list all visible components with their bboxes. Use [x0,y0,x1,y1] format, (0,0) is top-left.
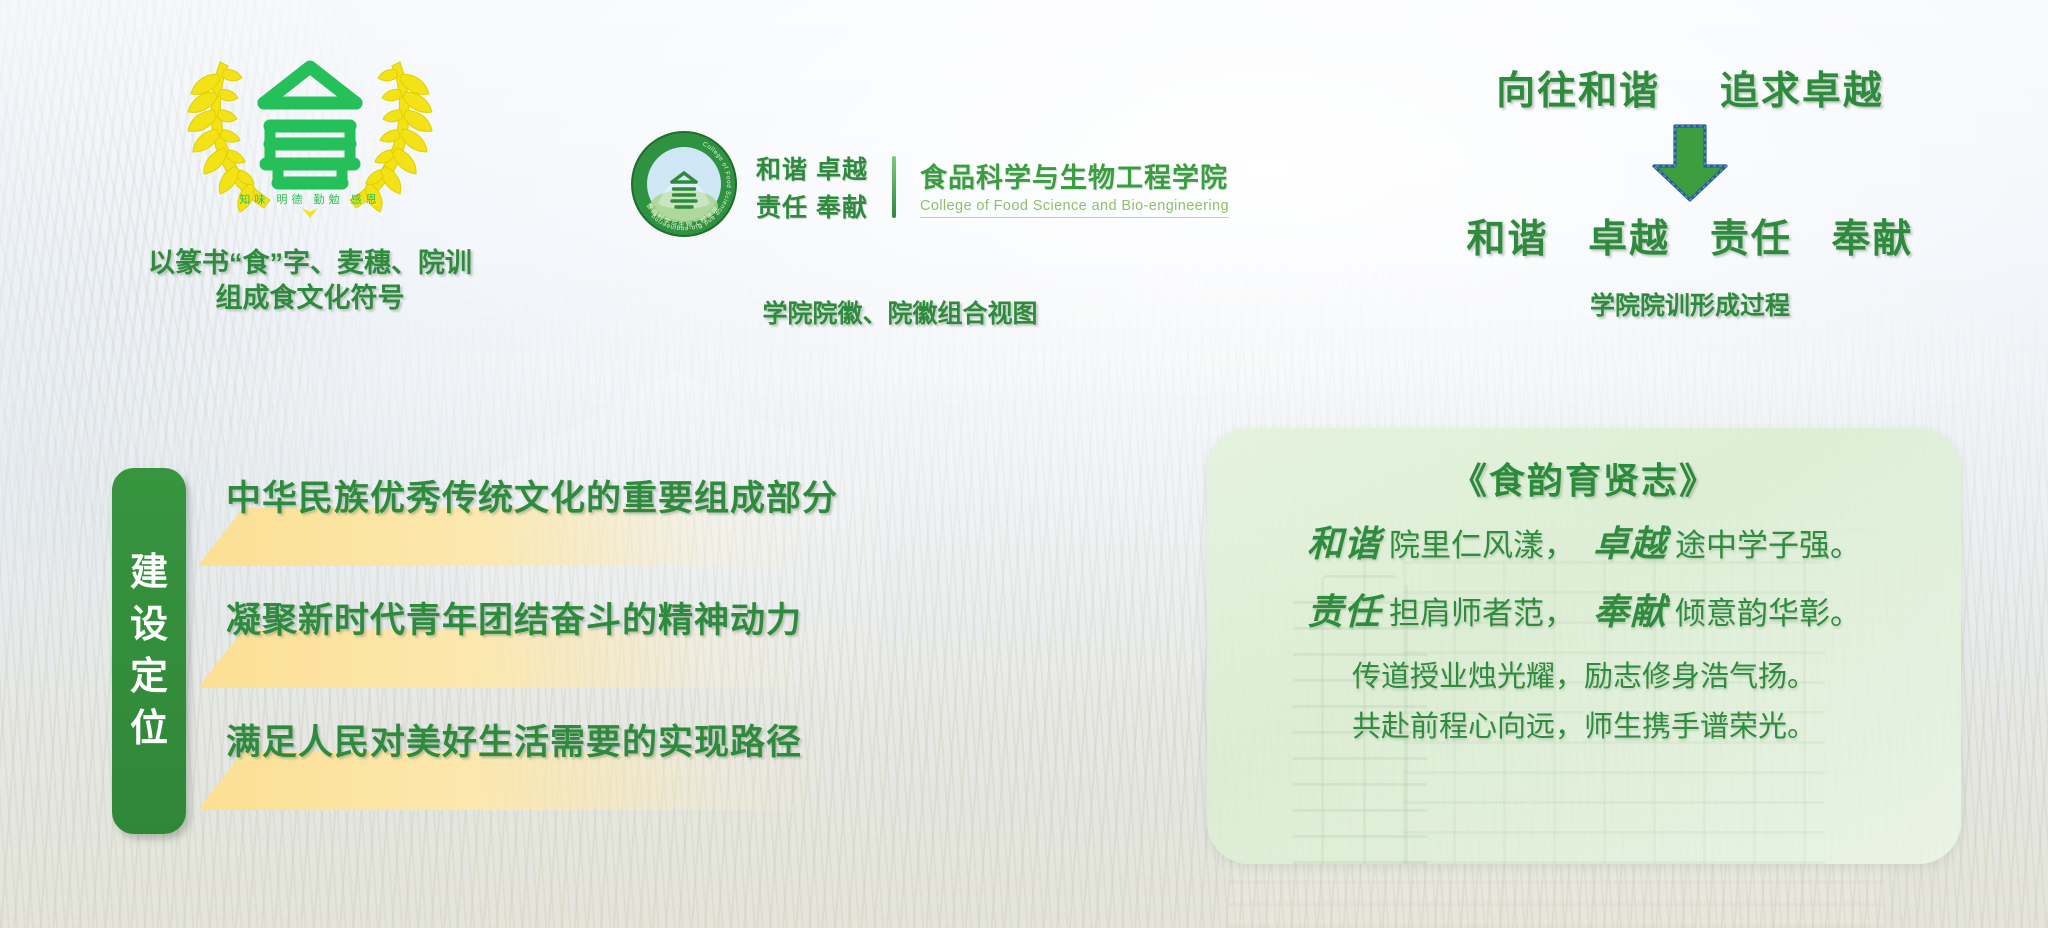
vertical-divider [892,156,896,218]
motto-source-line: 向往和谐 追求卓越 [1440,60,1940,116]
poem-line: 责任担肩师者范，奉献倾意韵华彰。 [1237,592,1931,632]
poem-keyword: 责任 [1307,592,1389,632]
positioning-label-char-3: 定 [130,658,168,696]
college-name-group: 食品科学与生物工程学院 College of Food Science and … [920,156,1229,218]
seal-script-food-character-icon: 知味 明德 勤勉 感恩 [160,40,460,230]
motto-formation-caption: 学院院训形成过程 [1440,290,1940,322]
poem-line: 共赴前程心向远，师生携手谱荣光。 [1237,711,1931,743]
emblem-motto-four-words: 和谐 卓越 责任 奉献 [756,150,868,224]
caption-line-1: 以篆书“食”字、麦穗、院训 [90,246,530,281]
motto-source-left: 向往和谐 [1496,70,1660,113]
wheat-ear-right-icon [350,62,432,212]
positioning-label-char-4: 位 [130,710,168,748]
poem-line-text: 担肩师者范， [1389,596,1575,631]
poem-content: 《食韵育贤志》 和谐院里仁风漾，卓越途中学子强。 责任担肩师者范，奉献倾意韵华彰… [1207,428,1961,744]
college-emblem-caption: 学院院徽、院徽组合视图 [630,298,1170,330]
poem-line: 传道授业烛光耀，励志修身浩气扬。 [1237,661,1931,693]
emblem-motto-line-2: 责任 奉献 [756,188,868,224]
positioning-item: 满足人民对美好生活需要的实现路径 [198,714,918,810]
poster-canvas: 知味 明德 勤勉 感恩 以篆书“食”字、麦穗、院训 组成食文化符号 [0,0,2048,928]
positioning-item-text: 满足人民对美好生活需要的实现路径 [226,714,802,765]
positioning-vertical-label: 建 设 定 位 [112,468,186,834]
college-name-english: College of Food Science and Bio-engineer… [920,198,1229,218]
caption-line-2: 组成食文化符号 [90,281,530,316]
college-name-chinese: 食品科学与生物工程学院 [920,156,1229,195]
food-culture-symbol-caption: 以篆书“食”字、麦穗、院训 组成食文化符号 [90,246,530,315]
top-row: 知味 明德 勤勉 感恩 以篆书“食”字、麦穗、院训 组成食文化符号 [0,0,2048,370]
positioning-item: 凝聚新时代青年团结奋斗的精神动力 [198,592,918,688]
poem-line-text: 倾意韵华彰。 [1675,596,1861,631]
emblem-lockup-row: College of Food Science and Bio-engineer… [630,130,1170,243]
poem-card: 《食韵育贤志》 和谐院里仁风漾，卓越途中学子强。 责任担肩师者范，奉献倾意韵华彰… [1207,428,1961,864]
poem-line-text: 途中学子强。 [1675,528,1861,563]
seal-symbol-graphic: 知味 明德 勤勉 感恩 [160,40,460,230]
motto-word-1: 和谐 [1466,218,1548,261]
motto-result-line: 和谐 卓越 责任 奉献 [1440,208,1940,264]
emblem-motto-line-1: 和谐 卓越 [756,150,868,186]
food-culture-symbol-block: 知味 明德 勤勉 感恩 以篆书“食”字、麦穗、院训 组成食文化符号 [90,40,530,315]
poem-line: 和谐院里仁风漾，卓越途中学子强。 [1237,524,1931,564]
motto-source-right: 追求卓越 [1720,70,1884,113]
seal-motto-text: 知味 明德 勤勉 感恩 [239,192,380,206]
motto-formation-block: 向往和谐 追求卓越 和谐 卓越 责任 奉献 学院院训形成过程 [1440,60,1940,322]
arrow-holder [1440,120,1940,206]
poem-keyword: 卓越 [1593,524,1675,564]
poem-line-text: 院里仁风漾， [1389,528,1575,563]
poem-keyword: 奉献 [1593,592,1675,632]
motto-word-2: 卓越 [1588,218,1670,261]
positioning-item-text: 中华民族优秀传统文化的重要组成部分 [226,470,838,521]
poem-title: 《食韵育贤志》 [1237,452,1931,504]
wheat-ear-left-icon [188,62,270,212]
construction-positioning-block: 建 设 定 位 中华民族优秀传统文化的重要组成部分 凝聚新时代青年团结奋斗的精神… [112,468,932,838]
motto-word-4: 奉献 [1832,218,1914,261]
down-arrow-icon [1644,122,1736,204]
college-emblem-block: College of Food Science and Bio-engineer… [630,130,1170,243]
positioning-item: 中华民族优秀传统文化的重要组成部分 [198,470,918,566]
positioning-item-text: 凝聚新时代青年团结奋斗的精神动力 [226,592,802,643]
poem-keyword: 和谐 [1307,524,1389,564]
positioning-item-list: 中华民族优秀传统文化的重要组成部分 凝聚新时代青年团结奋斗的精神动力 满足人民对… [198,468,933,834]
college-round-emblem-icon: College of Food Science and Bio-engineer… [630,130,738,243]
positioning-label-char-2: 设 [130,606,168,644]
motto-word-3: 责任 [1710,218,1792,261]
positioning-label-char-1: 建 [130,554,168,592]
